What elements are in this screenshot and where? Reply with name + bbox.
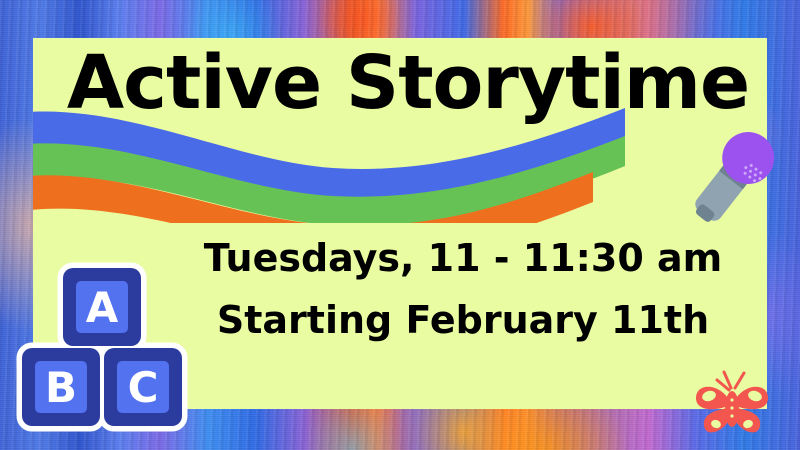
block-letter-a: A <box>86 283 119 332</box>
microphone-icon <box>664 128 792 230</box>
subtitle-line-2: Starting February 11th <box>183 290 743 352</box>
subtitle-line-1: Tuesdays, 11 - 11:30 am <box>204 236 722 280</box>
block-letter-b: B <box>45 363 77 412</box>
page-title: Active Storytime <box>63 46 753 120</box>
poster-canvas: Active Storytime Tuesdays, 11 - 11:30 am… <box>0 0 800 450</box>
butterfly-icon <box>690 370 774 442</box>
block-letter-c: C <box>128 363 159 412</box>
abc-blocks-icon: A B C <box>16 262 196 434</box>
subtitle-block: Tuesdays, 11 - 11:30 am Starting Februar… <box>183 228 743 351</box>
